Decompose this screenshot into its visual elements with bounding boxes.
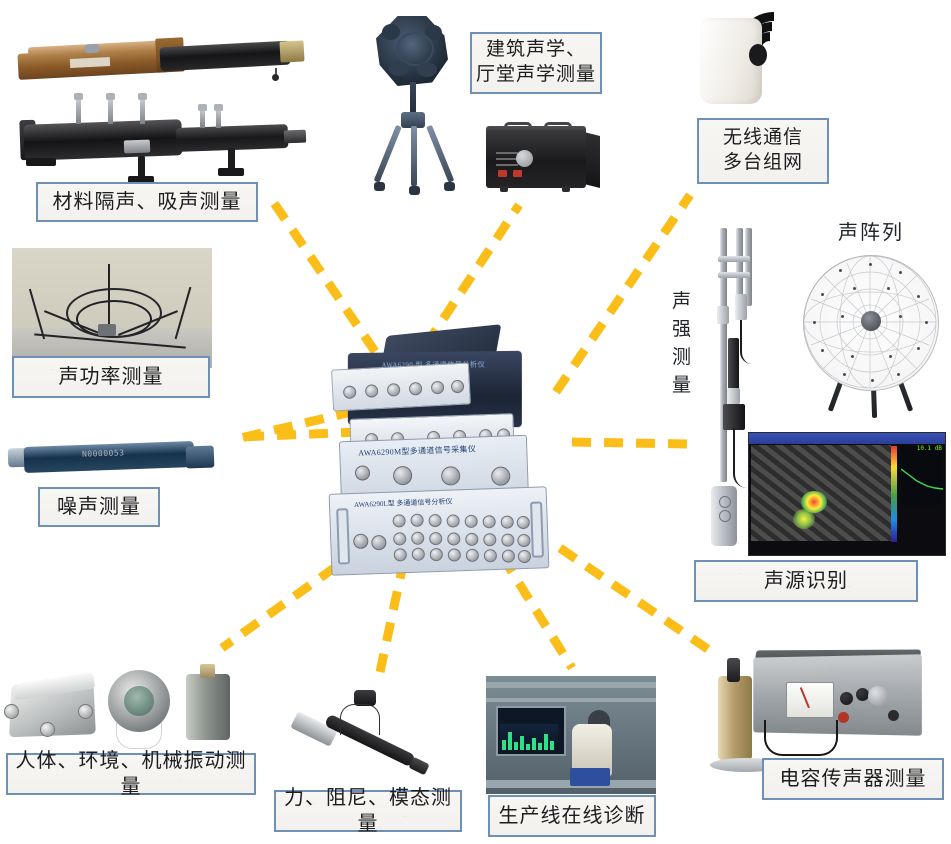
label-sound-source-identification[interactable]: 声源识别: [694, 560, 918, 602]
label-noise-measurement-text: 噪声测量: [57, 494, 141, 520]
label-noise-measurement[interactable]: 噪声测量: [38, 487, 160, 527]
acquisition-lower-chassis: AWA6290L型 多通道信号分析仪: [329, 486, 550, 576]
acquisition-mid-model-text: AWA6290M型多通道信号采集仪: [358, 444, 476, 459]
label-material-insulation[interactable]: 材料隔声、吸声测量: [36, 182, 258, 222]
central-acquisition-system[interactable]: AWA6290 型 多通道信号分析仪 AWA6290M型多通道信号采集仪 AWA…: [322, 330, 572, 580]
spherical-microphone-array-photo: [803, 255, 937, 389]
connector-condenser-microphone: [560, 548, 712, 652]
acquisition-connector-module-1: [331, 362, 471, 411]
label-force-damping-modal-text: 力、阻尼、模态测量: [276, 785, 460, 837]
spectrum-curve-icon: [901, 467, 943, 493]
label-sound-intensity[interactable]: 声 强 测 量: [672, 288, 691, 400]
noise-microphone-photo: N0000053: [8, 436, 218, 480]
dodecahedron-speaker-photo: [376, 16, 448, 86]
label-sound-intensity-char-1: 声: [672, 288, 691, 316]
label-building-acoustics-line2: 厅堂声学测量: [476, 63, 596, 88]
label-wireless-networking[interactable]: 无线通信 多台组网: [697, 118, 829, 184]
label-production-line-diagnosis[interactable]: 生产线在线诊断: [488, 795, 656, 837]
acquisition-lower-model-text: AWA6290L型 多通道信号分析仪: [354, 497, 453, 510]
label-condenser-microphone[interactable]: 电容传声器测量: [762, 758, 944, 800]
label-force-damping-modal[interactable]: 力、阻尼、模态测量: [274, 790, 462, 832]
impedance-tube-lower-photo: [16, 100, 316, 190]
connector-sound-intensity: [572, 442, 690, 444]
sound-intensity-probe-photo: [702, 228, 754, 550]
screenshot-level-reading: 10.1 dB: [917, 445, 942, 452]
anechoic-chamber-photo: [12, 248, 212, 368]
label-vibration-measurement[interactable]: 人体、环境、机械振动测量: [6, 753, 256, 795]
hydrophone-serial-text: N0000053: [82, 448, 125, 458]
label-sound-power[interactable]: 声功率测量: [12, 356, 210, 398]
label-vibration-measurement-text: 人体、环境、机械振动测量: [8, 748, 254, 800]
impact-hammer-photo: [292, 690, 452, 780]
connector-wireless-networking: [556, 195, 690, 392]
label-acoustic-array-text: 声阵列: [838, 222, 904, 244]
wireless-router-photo: [700, 18, 762, 104]
sound-source-amplifier-photo: [486, 122, 602, 194]
label-wireless-networking-line2: 多台组网: [723, 151, 803, 176]
label-building-acoustics[interactable]: 建筑声学、 厅堂声学测量: [470, 32, 602, 94]
label-acoustic-array[interactable]: 声阵列: [838, 216, 904, 245]
sound-source-identification-screenshot: 10.1 dB: [748, 432, 946, 556]
label-wireless-networking-line1: 无线通信: [723, 126, 803, 151]
label-production-line-diagnosis-text: 生产线在线诊断: [499, 803, 646, 829]
label-material-insulation-text: 材料隔声、吸声测量: [53, 189, 242, 215]
label-building-acoustics-line1: 建筑声学、: [486, 38, 586, 63]
diagram-canvas: 材料隔声、吸声测量 建筑声学、 厅堂声学测量 无线通信 多台组网: [0, 0, 951, 844]
speaker-tripod-photo: [370, 82, 460, 192]
label-sound-intensity-char-3: 测: [672, 344, 691, 372]
label-sound-power-text: 声功率测量: [59, 364, 164, 390]
label-sound-intensity-char-2: 强: [672, 316, 691, 344]
label-sound-intensity-char-4: 量: [672, 372, 691, 400]
label-condenser-microphone-text: 电容传声器测量: [780, 766, 927, 792]
impedance-tube-upper-photo: [18, 30, 308, 90]
production-line-photo: [486, 676, 656, 794]
label-sound-source-identification-text: 声源识别: [764, 568, 848, 594]
